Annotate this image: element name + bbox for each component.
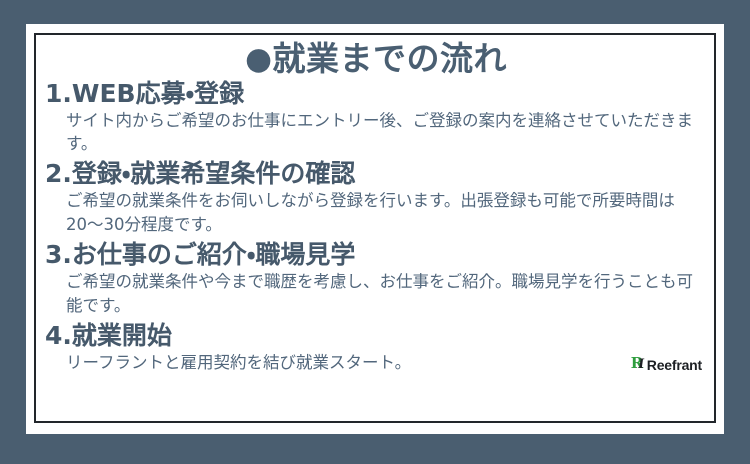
step-3: 3.お仕事のご紹介・職場見学 ご希望の就業条件や今まで職歴を考慮し、お仕事をご紹… xyxy=(44,239,708,320)
step-2-body: ご希望の就業条件をお伺いしながら登録を行います。出張登録も可能で所要時間は20〜… xyxy=(44,189,708,239)
content-paper: ●就業までの流れ 1.WEB応募・登録 サイト内からご希望のお仕事にエントリー後… xyxy=(26,24,724,434)
company-logo: R I Reefrant xyxy=(631,357,708,375)
step-1: 1.WEB応募・登録 サイト内からご希望のお仕事にエントリー後、ご登録の案内を連… xyxy=(44,78,708,159)
company-logo-name: Reefrant xyxy=(647,357,702,373)
step-4-body: リーフラントと雇用契約を結び就業スタート。 xyxy=(44,351,411,374)
content-frame: ●就業までの流れ 1.WEB応募・登録 サイト内からご希望のお仕事にエントリー後… xyxy=(34,33,716,423)
reefrant-logo-mark-icon: R I xyxy=(631,357,646,372)
slide-canvas: ●就業までの流れ 1.WEB応募・登録 サイト内からご希望のお仕事にエントリー後… xyxy=(0,0,750,464)
logo-mark-right-letter: I xyxy=(637,358,645,371)
step-1-body: サイト内からご希望のお仕事にエントリー後、ご登録の案内を連絡させていただきます。 xyxy=(44,109,708,159)
step-2: 2.登録・就業希望条件の確認 ご希望の就業条件をお伺いしながら登録を行います。出… xyxy=(44,158,708,239)
step-3-heading: 3.お仕事のご紹介・職場見学 xyxy=(44,239,708,270)
step-1-heading: 1.WEB応募・登録 xyxy=(44,78,708,109)
step-4: 4.就業開始 リーフラントと雇用契約を結び就業スタート。 R I Reefran… xyxy=(44,320,708,374)
step-3-body: ご希望の就業条件や今まで職歴を考慮し、お仕事をご紹介。職場見学を行うことも可能で… xyxy=(44,270,708,320)
step-4-row: リーフラントと雇用契約を結び就業スタート。 R I Reefrant xyxy=(44,351,708,374)
bullet-icon: ● xyxy=(245,41,273,77)
step-4-heading: 4.就業開始 xyxy=(44,320,708,351)
page-title-text: 就業までの流れ xyxy=(273,39,508,78)
step-2-heading: 2.登録・就業希望条件の確認 xyxy=(44,158,708,189)
page-title: ●就業までの流れ xyxy=(44,41,708,77)
